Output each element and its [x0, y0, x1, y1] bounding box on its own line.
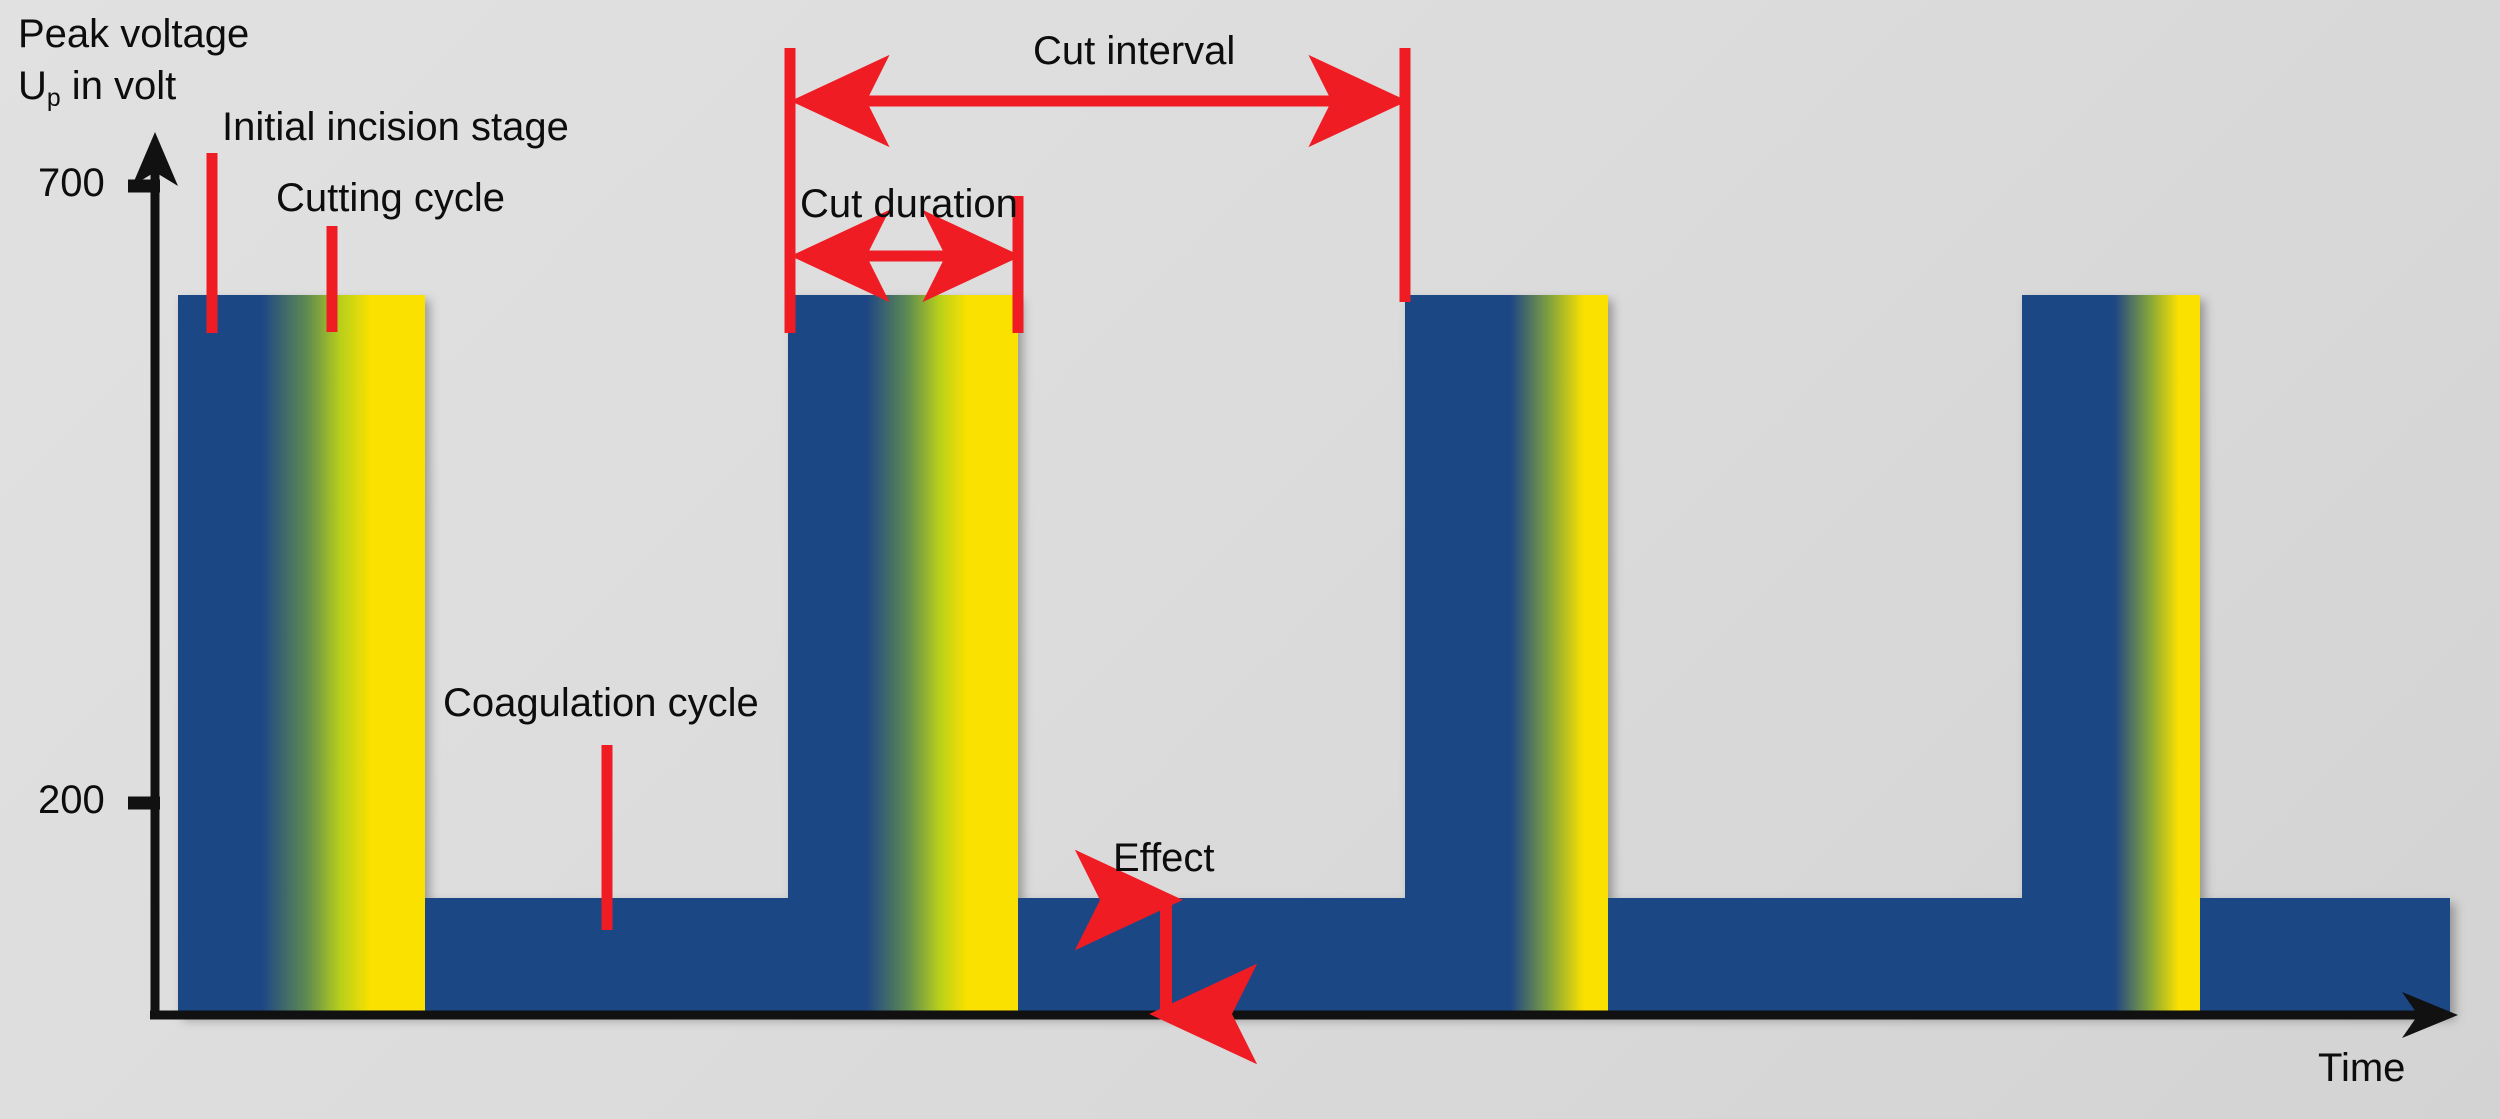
- coagulation-plateau-2: [1018, 898, 1405, 1015]
- effect-label: Effect: [1113, 836, 1215, 881]
- y-axis-unit-suffix: in volt: [61, 64, 177, 108]
- y-axis-unit-subscript: p: [47, 85, 61, 112]
- cutting-cycle-label: Cutting cycle: [276, 176, 505, 221]
- waveform-svg: [0, 0, 2500, 1119]
- coagulation-plateau-3: [1608, 898, 2022, 1015]
- cutting-burst-2: [788, 295, 1018, 1015]
- cutting-burst-4: [2022, 295, 2200, 1015]
- cutting-burst-1: [178, 295, 425, 1015]
- y-axis-unit-symbol: U: [18, 64, 47, 108]
- x-axis-label: Time: [2318, 1046, 2405, 1091]
- cut-interval-label: Cut interval: [1033, 29, 1235, 74]
- y-tick-label-700: 700: [38, 161, 105, 206]
- figure-canvas: Peak voltage Up in volt 700 200 Time Ini…: [0, 0, 2500, 1119]
- initial-incision-stage-label: Initial incision stage: [222, 105, 569, 150]
- y-axis-title-line1: Peak voltage: [18, 12, 249, 57]
- waveform-envelope: [178, 295, 2450, 1015]
- cutting-burst-3: [1405, 295, 1608, 1015]
- coagulation-cycle-label: Coagulation cycle: [443, 681, 759, 726]
- y-tick-label-200: 200: [38, 778, 105, 823]
- cut-duration-label: Cut duration: [800, 182, 1018, 227]
- y-axis-title-line2: Up in volt: [18, 64, 176, 113]
